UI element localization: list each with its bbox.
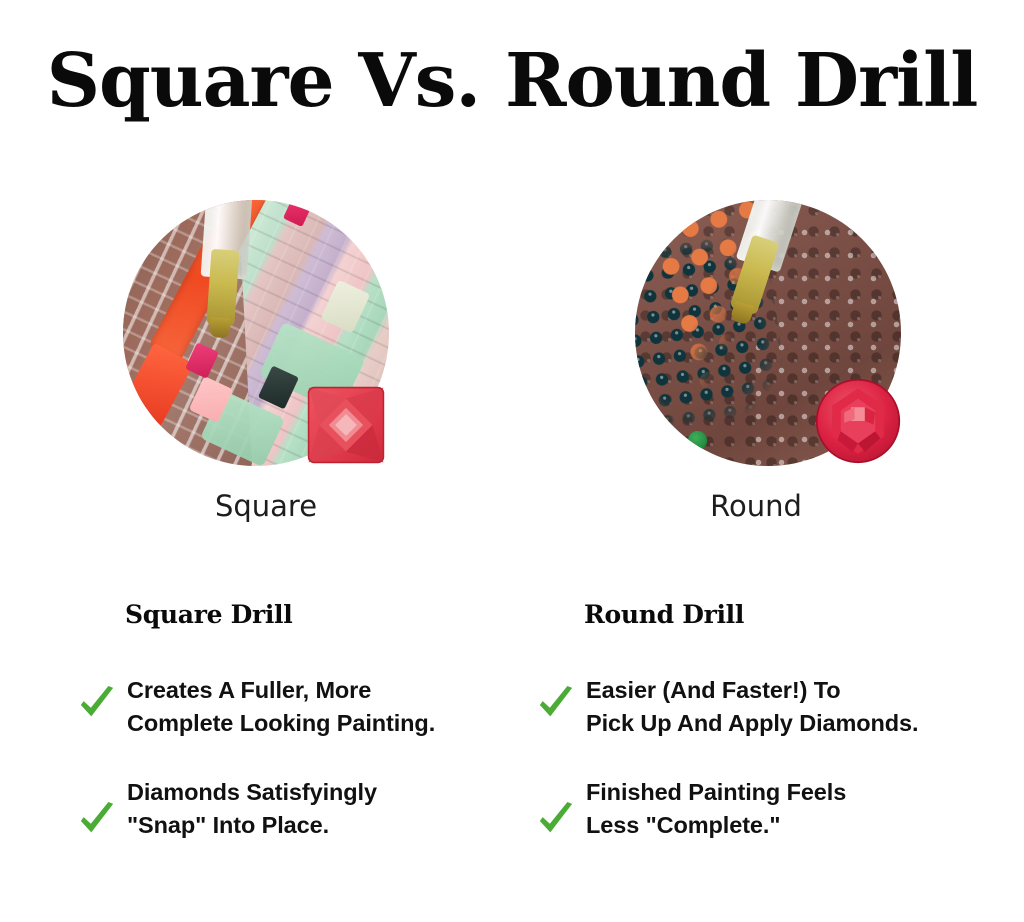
check-icon <box>537 800 575 840</box>
round-photo-column <box>512 196 1024 486</box>
benefit-text: Finished Painting Feels Less "Complete." <box>586 776 997 842</box>
check-icon <box>78 800 116 840</box>
round-photo-stage <box>635 200 901 466</box>
list-item: Finished Painting Feels Less "Complete." <box>537 776 997 850</box>
benefits-section: Square Drill Creates A Fuller, More Comp… <box>0 600 1024 880</box>
square-photo-stage <box>123 200 389 466</box>
comparison-photo-row <box>0 196 1024 486</box>
list-item: Creates A Fuller, More Complete Looking … <box>78 674 538 748</box>
list-item: Diamonds Satisfyingly "Snap" Into Place. <box>78 776 538 850</box>
benefit-text: Easier (And Faster!) To Pick Up And Appl… <box>586 674 997 740</box>
square-drill-benefits: Square Drill Creates A Fuller, More Comp… <box>78 600 538 878</box>
list-item: Easier (And Faster!) To Pick Up And Appl… <box>537 674 997 748</box>
round-drill-benefits: Round Drill Easier (And Faster!) To Pick… <box>537 600 997 878</box>
caption-round: Round <box>500 486 1012 526</box>
pen-tip <box>209 317 230 338</box>
check-icon <box>537 684 575 724</box>
round-drill-heading: Round Drill <box>584 600 997 630</box>
benefit-text: Creates A Fuller, More Complete Looking … <box>127 674 538 740</box>
square-photo-column <box>0 196 512 486</box>
check-icon <box>78 684 116 724</box>
round-gem <box>815 378 901 464</box>
page-title: Square Vs. Round Drill <box>0 44 1024 118</box>
square-gem <box>307 386 385 464</box>
benefit-text: Diamonds Satisfyingly "Snap" Into Place. <box>127 776 538 842</box>
square-drill-heading: Square Drill <box>125 600 538 630</box>
round-green-bead <box>688 431 707 450</box>
caption-square: Square <box>10 486 522 526</box>
pen-wax <box>206 249 239 327</box>
photo-captions: Square Round <box>0 486 1024 530</box>
